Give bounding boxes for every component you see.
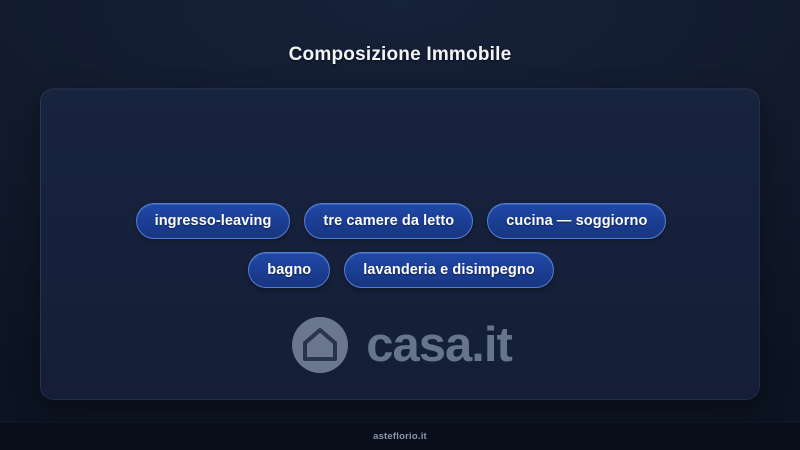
composition-pill[interactable]: tre camere da letto — [304, 203, 473, 239]
footer-site-label: asteflorio.it — [373, 431, 427, 442]
composition-pill-group: ingresso-leaving tre camere da letto cuc… — [41, 203, 761, 288]
house-in-circle-icon — [290, 315, 350, 375]
composition-pill[interactable]: cucina — soggiorno — [487, 203, 666, 239]
footer-bar: asteflorio.it — [0, 422, 800, 450]
slide-canvas: Composizione Immobile ingresso-leaving t… — [0, 0, 800, 450]
casa-it-wordmark: casa.it — [366, 321, 512, 370]
composition-row-1: ingresso-leaving tre camere da letto cuc… — [41, 203, 761, 239]
composition-card: ingresso-leaving tre camere da letto cuc… — [40, 88, 760, 400]
composition-pill[interactable]: bagno — [248, 252, 330, 288]
composition-pill[interactable]: lavanderia e disimpegno — [344, 252, 554, 288]
casa-it-watermark: casa.it — [41, 315, 761, 375]
composition-pill[interactable]: ingresso-leaving — [136, 203, 291, 239]
page-title: Composizione Immobile — [0, 44, 800, 66]
composition-row-2: bagno lavanderia e disimpegno — [41, 252, 761, 288]
